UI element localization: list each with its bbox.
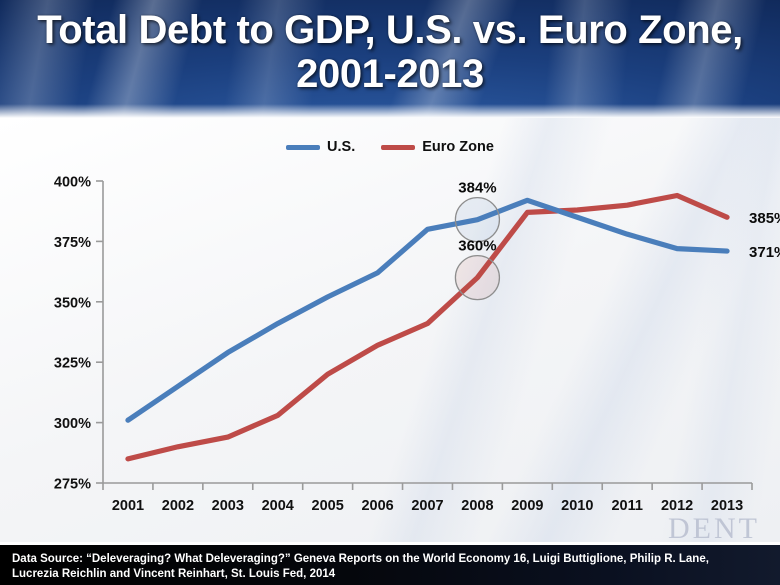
x-tick-label: 2007 bbox=[411, 498, 443, 514]
dent-watermark-text: DENT bbox=[668, 512, 760, 545]
x-tick-label: 2011 bbox=[611, 498, 642, 514]
data-source-note: Data Source: “Deleveraging? What Delever… bbox=[12, 552, 770, 581]
annotation-highlight-circle bbox=[455, 256, 499, 300]
title-banner: Total Debt to GDP, U.S. vs. Euro Zone, 2… bbox=[0, 0, 780, 118]
data-source-line-2: Lucrezia Reichlin and Vincent Reinhart, … bbox=[12, 568, 335, 580]
x-tick-label: 2003 bbox=[212, 498, 244, 514]
y-tick-label: 275% bbox=[54, 477, 91, 493]
y-tick-label: 325% bbox=[54, 356, 91, 372]
y-tick-label: 350% bbox=[54, 295, 91, 311]
annotation-highlight-circle bbox=[455, 198, 499, 242]
series-lines bbox=[128, 195, 727, 458]
x-tick-label: 2002 bbox=[162, 498, 194, 514]
series-line-us bbox=[128, 200, 727, 420]
series-end-label: 385% bbox=[749, 210, 780, 227]
x-tick-label: 2004 bbox=[262, 498, 294, 514]
footer-bar: Data Source: “Deleveraging? What Delever… bbox=[0, 545, 780, 585]
data-source-line-1: Data Source: “Deleveraging? What Delever… bbox=[12, 553, 709, 565]
line-chart: U.S. Euro Zone 275%300%325%350%375%400% … bbox=[0, 118, 780, 542]
y-tick-label: 400% bbox=[54, 175, 91, 191]
y-tick-label: 375% bbox=[54, 235, 91, 251]
annotation-value-label: 360% bbox=[458, 238, 496, 255]
x-tick-label: 2010 bbox=[561, 498, 593, 514]
annotation-layer: 384%360% bbox=[455, 180, 499, 300]
chart-canvas: 275%300%325%350%375%400% 200120022003200… bbox=[0, 118, 780, 542]
x-axis: 2001200220032004200520062007200820092010… bbox=[103, 483, 752, 514]
x-tick-label: 2009 bbox=[511, 498, 543, 514]
end-label-layer: 385%371% bbox=[749, 210, 780, 261]
x-tick-label: 2005 bbox=[312, 498, 344, 514]
x-tick-label: 2006 bbox=[361, 498, 393, 514]
annotation-value-label: 384% bbox=[458, 180, 496, 197]
y-axis: 275%300%325%350%375%400% bbox=[54, 175, 103, 493]
page-title: Total Debt to GDP, U.S. vs. Euro Zone, 2… bbox=[0, 8, 780, 96]
y-tick-label: 300% bbox=[54, 416, 91, 432]
series-end-label: 371% bbox=[749, 244, 780, 261]
x-tick-label: 2008 bbox=[461, 498, 493, 514]
x-tick-label: 2001 bbox=[112, 498, 144, 514]
